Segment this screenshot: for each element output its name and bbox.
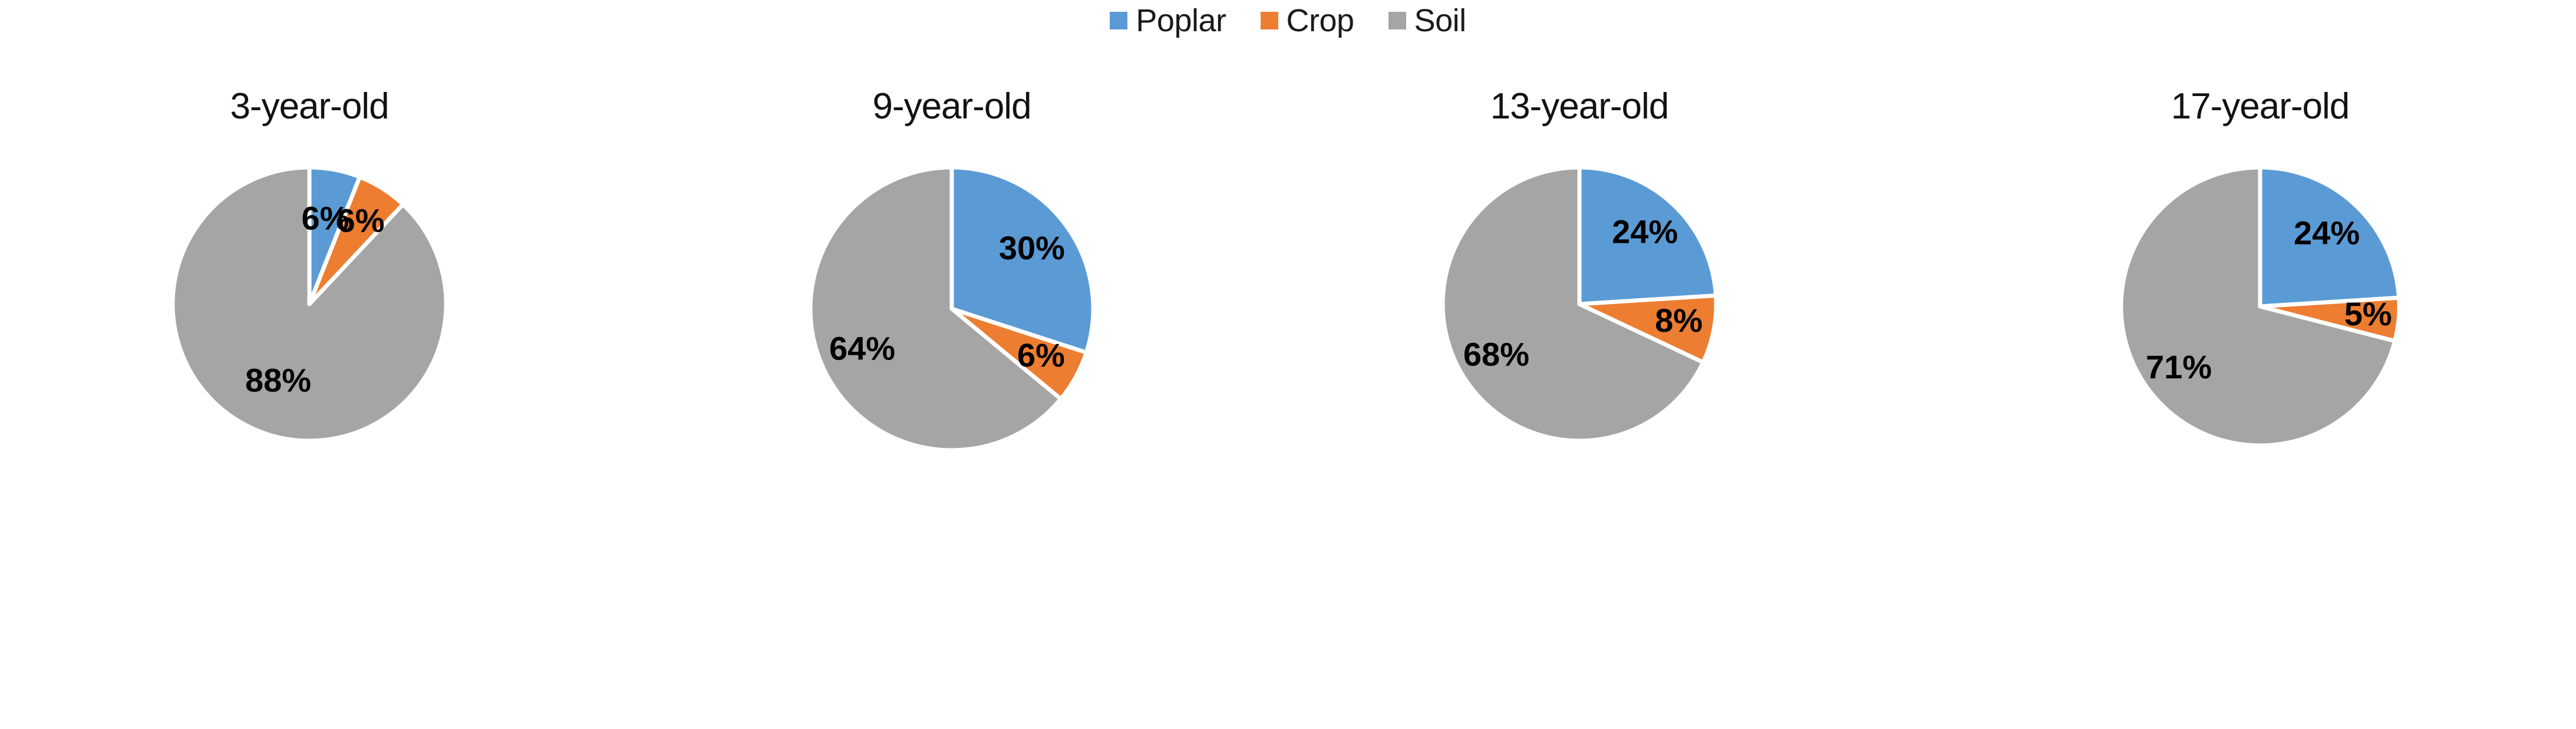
slice-label-poplar: 24% [2294, 214, 2360, 251]
pie-title: 13-year-old [1270, 88, 1889, 125]
pie-chart-figure: Poplar Crop Soil 3-year-old 6%6%88% 9-ye… [0, 0, 2576, 729]
slice-label-soil: 64% [829, 329, 895, 367]
legend-item-poplar: Poplar [1110, 5, 1226, 37]
pie-graphic: 24%5%71% [1951, 153, 2570, 467]
chart-legend: Poplar Crop Soil [0, 0, 2576, 41]
pie-title: 9-year-old [642, 88, 1261, 125]
pie-title: 3-year-old [0, 88, 619, 125]
pie-panel-9-year-old: 9-year-old 30%6%64% [642, 88, 1261, 725]
legend-item-crop: Crop [1261, 5, 1354, 37]
slice-label-soil: 71% [2146, 348, 2212, 385]
pie-graphic: 6%6%88% [0, 153, 619, 462]
slice-label-crop: 5% [2344, 295, 2392, 332]
pie-canvas: 24%5%71% [1951, 153, 2570, 719]
pie-graphic: 24%8%68% [1270, 153, 1889, 462]
pie-panel-3-year-old: 3-year-old 6%6%88% [0, 88, 619, 725]
legend-label-poplar: Poplar [1136, 5, 1226, 37]
pie-title: 17-year-old [1951, 88, 2570, 125]
legend-label-soil: Soil [1414, 5, 1466, 37]
slice-label-crop: 6% [337, 202, 385, 239]
legend-label-crop: Crop [1287, 5, 1354, 37]
slice-label-crop: 8% [1655, 302, 1703, 339]
pie-panel-13-year-old: 13-year-old 24%8%68% [1270, 88, 1889, 725]
slice-label-poplar: 30% [999, 229, 1065, 266]
square-swatch-icon [1388, 12, 1406, 29]
legend-item-soil: Soil [1388, 5, 1466, 37]
pie-graphic: 30%6%64% [642, 153, 1261, 471]
slice-label-poplar: 24% [1612, 213, 1678, 250]
slice-label-soil: 88% [245, 362, 311, 399]
slice-label-crop: 6% [1017, 337, 1065, 374]
pie-canvas: 6%6%88% [0, 153, 619, 719]
pie-canvas: 30%6%64% [642, 153, 1261, 719]
square-swatch-icon [1110, 12, 1127, 29]
square-swatch-icon [1261, 12, 1278, 29]
slice-label-soil: 68% [1463, 335, 1529, 372]
pie-panel-17-year-old: 17-year-old 24%5%71% [1951, 88, 2570, 725]
pie-canvas: 24%8%68% [1270, 153, 1889, 719]
